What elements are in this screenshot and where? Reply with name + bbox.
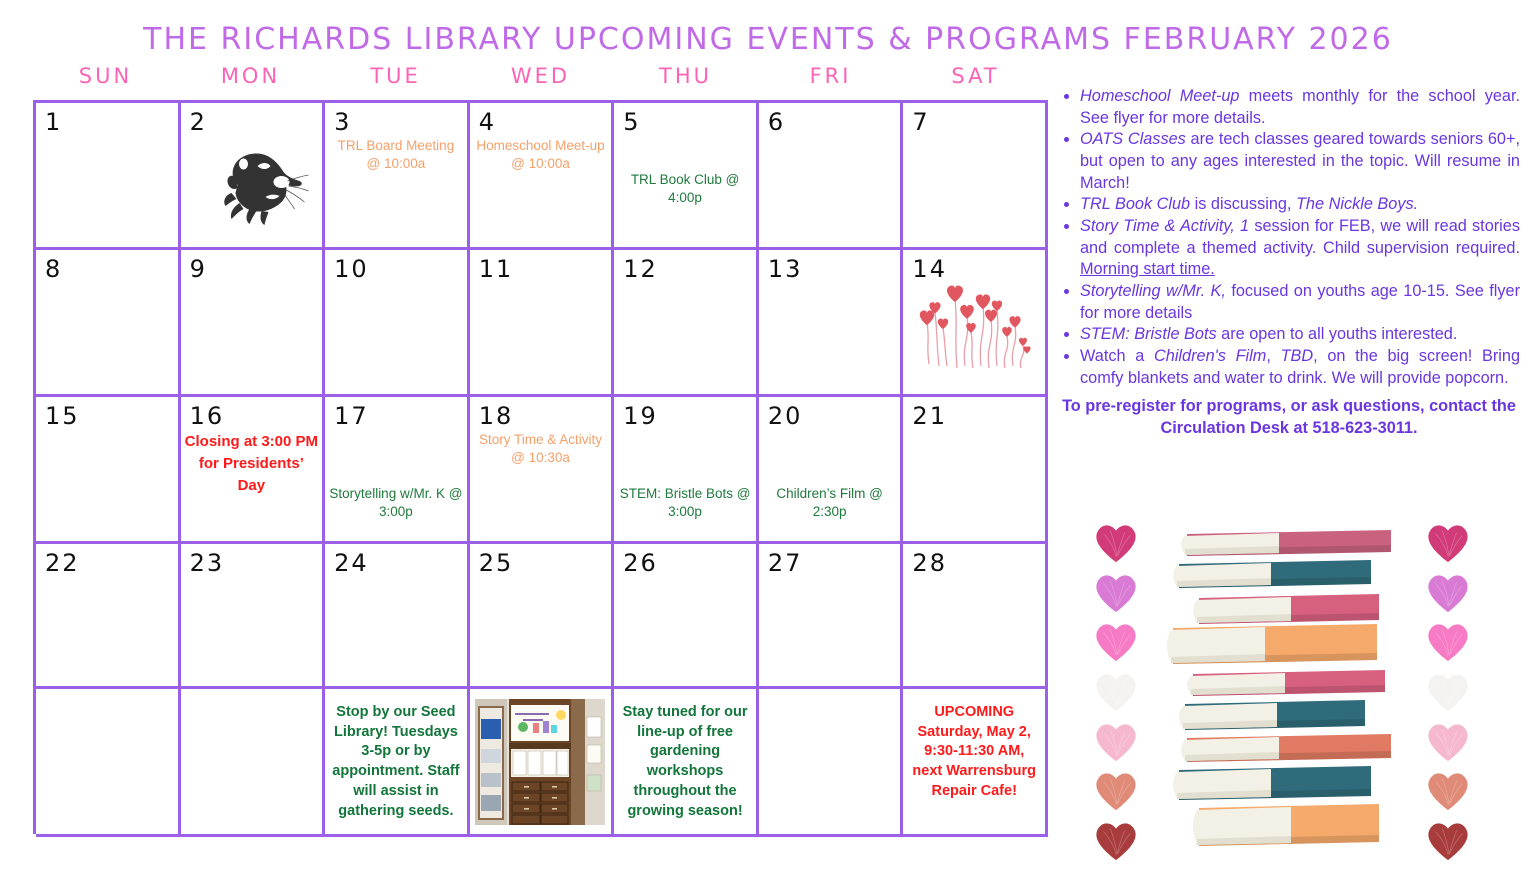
- program-note-item: STEM: Bristle Bots are open to all youth…: [1080, 324, 1520, 346]
- seed-library-photo: [475, 699, 605, 825]
- heart-icon: [1093, 671, 1139, 713]
- day-number: 21: [912, 402, 947, 430]
- seed-library-photo-wrap: [470, 689, 612, 834]
- calendar-event[interactable]: Storytelling w/Mr. K @ 3:00p: [329, 485, 463, 521]
- calendar-day-cell[interactable]: 16Closing at 3:00 PM for Presidents’ Day: [181, 397, 326, 544]
- info-panel: Homeschool Meet-up meets monthly for the…: [1058, 86, 1520, 439]
- calendar-note-cell[interactable]: Stop by our Seed Library! Tuesdays 3-5p …: [325, 689, 470, 837]
- day-number: 10: [334, 255, 369, 283]
- day-number: 2: [190, 108, 207, 136]
- day-number: 27: [768, 549, 803, 577]
- calendar-event[interactable]: Children’s Film @ 2:30p: [763, 485, 897, 521]
- day-number: 13: [768, 255, 803, 283]
- day-number: 22: [45, 549, 80, 577]
- calendar-day-cell[interactable]: 12: [614, 250, 759, 397]
- heart-icon: [1093, 572, 1139, 614]
- calendar-note-cell[interactable]: Stay tuned for our line-up of free garde…: [614, 689, 759, 837]
- calendar-event[interactable]: TRL Board Meeting @ 10:00a: [329, 137, 463, 173]
- day-number: 5: [623, 108, 640, 136]
- day-number: 8: [45, 255, 62, 283]
- calendar-event[interactable]: Story Time & Activity @ 10:30a: [474, 431, 608, 467]
- calendar-day-cell[interactable]: 2: [181, 103, 326, 250]
- program-note-item: TRL Book Club is discussing, The Nickle …: [1080, 194, 1520, 216]
- day-number: 15: [45, 402, 80, 430]
- contact-note: To pre-register for programs, or ask que…: [1058, 395, 1520, 439]
- day-number: 18: [479, 402, 514, 430]
- day-number: 4: [479, 108, 496, 136]
- calendar-note-cell[interactable]: [470, 689, 615, 837]
- calendar-event[interactable]: TRL Book Club @ 4:00p: [618, 171, 752, 207]
- calendar-day-cell[interactable]: 21: [903, 397, 1048, 544]
- day-of-week-fri: FRI: [758, 64, 903, 88]
- calendar-day-cell[interactable]: 26: [614, 544, 759, 689]
- calendar-event[interactable]: UPCOMING Saturday, May 2, 9:30-11:30 AM,…: [907, 703, 1041, 802]
- calendar-event[interactable]: STEM: Bristle Bots @ 3:00p: [618, 485, 752, 521]
- calendar-day-cell[interactable]: 17Storytelling w/Mr. K @ 3:00p: [325, 397, 470, 544]
- day-of-week-sat: SAT: [903, 64, 1048, 88]
- day-number: 7: [912, 108, 929, 136]
- day-number: 14: [912, 255, 947, 283]
- heart-column-right: [1402, 522, 1494, 862]
- heart-icon: [1425, 522, 1471, 564]
- calendar-day-cell[interactable]: 7: [903, 103, 1048, 250]
- heart-icon: [1425, 621, 1471, 663]
- day-number: 9: [190, 255, 207, 283]
- day-of-week-sun: SUN: [33, 64, 178, 88]
- calendar-day-cell[interactable]: 20Children’s Film @ 2:30p: [759, 397, 904, 544]
- day-number: 19: [623, 402, 658, 430]
- calendar-day-cell[interactable]: 19STEM: Bristle Bots @ 3:00p: [614, 397, 759, 544]
- program-note-item: Homeschool Meet-up meets monthly for the…: [1080, 86, 1520, 129]
- calendar-day-cell[interactable]: 11: [470, 250, 615, 397]
- day-number: 25: [479, 549, 514, 577]
- calendar-day-cell[interactable]: 15: [36, 397, 181, 544]
- heart-icon: [1093, 621, 1139, 663]
- day-number: 17: [334, 402, 369, 430]
- calendar-day-cell[interactable]: 5TRL Book Club @ 4:00p: [614, 103, 759, 250]
- day-number: 23: [190, 549, 225, 577]
- day-number: 28: [912, 549, 947, 577]
- calendar-day-cell[interactable]: 23: [181, 544, 326, 689]
- calendar-day-cell[interactable]: 10: [325, 250, 470, 397]
- day-of-week-wed: WED: [468, 64, 613, 88]
- heart-icon: [1093, 522, 1139, 564]
- heart-icon: [1093, 820, 1139, 862]
- calendar-day-cell[interactable]: 1: [36, 103, 181, 250]
- heart-icon: [1093, 721, 1139, 763]
- calendar-day-cell[interactable]: 3TRL Board Meeting @ 10:00a: [325, 103, 470, 250]
- calendar-note-cell[interactable]: [36, 689, 181, 837]
- calendar-day-cell[interactable]: 9: [181, 250, 326, 397]
- calendar-note-cell[interactable]: [759, 689, 904, 837]
- program-notes-list: Homeschool Meet-up meets monthly for the…: [1058, 86, 1520, 389]
- heart-icon: [1093, 770, 1139, 812]
- calendar-day-cell[interactable]: 6: [759, 103, 904, 250]
- heart-icon: [1425, 572, 1471, 614]
- calendar-event[interactable]: Stay tuned for our line-up of free garde…: [618, 703, 752, 821]
- heart-icon: [1425, 721, 1471, 763]
- day-number: 16: [190, 402, 225, 430]
- day-of-week-mon: MON: [178, 64, 323, 88]
- heart-icon: [1425, 820, 1471, 862]
- heart-icon: [1425, 671, 1471, 713]
- day-number: 26: [623, 549, 658, 577]
- day-of-week-thu: THU: [613, 64, 758, 88]
- calendar-day-cell[interactable]: 25: [470, 544, 615, 689]
- day-of-week-row: SUNMONTUEWEDTHUFRISAT: [33, 64, 1048, 88]
- decorative-artwork-row: [1058, 522, 1524, 862]
- day-number: 6: [768, 108, 785, 136]
- program-note-item: Watch a Children's Film, TBD, on the big…: [1080, 346, 1520, 389]
- calendar-day-cell[interactable]: 22: [36, 544, 181, 689]
- calendar-event[interactable]: Homeschool Meet-up @ 10:00a: [474, 137, 608, 173]
- calendar-day-cell[interactable]: 28: [903, 544, 1048, 689]
- calendar-day-cell[interactable]: 14: [903, 250, 1048, 397]
- day-number: 1: [45, 108, 62, 136]
- book-stack-illustration: [1162, 520, 1402, 864]
- program-note-item: OATS Classes are tech classes geared tow…: [1080, 129, 1520, 194]
- day-number: 12: [623, 255, 658, 283]
- program-note-item: Story Time & Activity, 1 session for FEB…: [1080, 216, 1520, 281]
- day-number: 24: [334, 549, 369, 577]
- day-number: 20: [768, 402, 803, 430]
- heart-icon: [1425, 770, 1471, 812]
- calendar-day-cell[interactable]: 8: [36, 250, 181, 397]
- calendar-note-cell[interactable]: UPCOMING Saturday, May 2, 9:30-11:30 AM,…: [903, 689, 1048, 837]
- day-of-week-tue: TUE: [323, 64, 468, 88]
- calendar-grid: 12 3TRL Board Meeting @ 10:00a4Homeschoo…: [33, 100, 1048, 834]
- calendar-note-cell[interactable]: [181, 689, 326, 837]
- calendar-day-cell[interactable]: 24: [325, 544, 470, 689]
- calendar-event[interactable]: Closing at 3:00 PM for Presidents’ Day: [185, 431, 319, 496]
- calendar-day-cell[interactable]: 18Story Time & Activity @ 10:30a: [470, 397, 615, 544]
- calendar-day-cell[interactable]: 27: [759, 544, 904, 689]
- day-number: 11: [479, 255, 514, 283]
- calendar-day-cell[interactable]: 4Homeschool Meet-up @ 10:00a: [470, 103, 615, 250]
- page-title: THE RICHARDS LIBRARY UPCOMING EVENTS & P…: [0, 22, 1536, 57]
- day-number: 3: [334, 108, 351, 136]
- calendar-event[interactable]: Stop by our Seed Library! Tuesdays 3-5p …: [329, 703, 463, 821]
- calendar-day-cell[interactable]: 13: [759, 250, 904, 397]
- heart-column-left: [1070, 522, 1162, 862]
- program-note-item: Storytelling w/Mr. K, focused on youths …: [1080, 281, 1520, 324]
